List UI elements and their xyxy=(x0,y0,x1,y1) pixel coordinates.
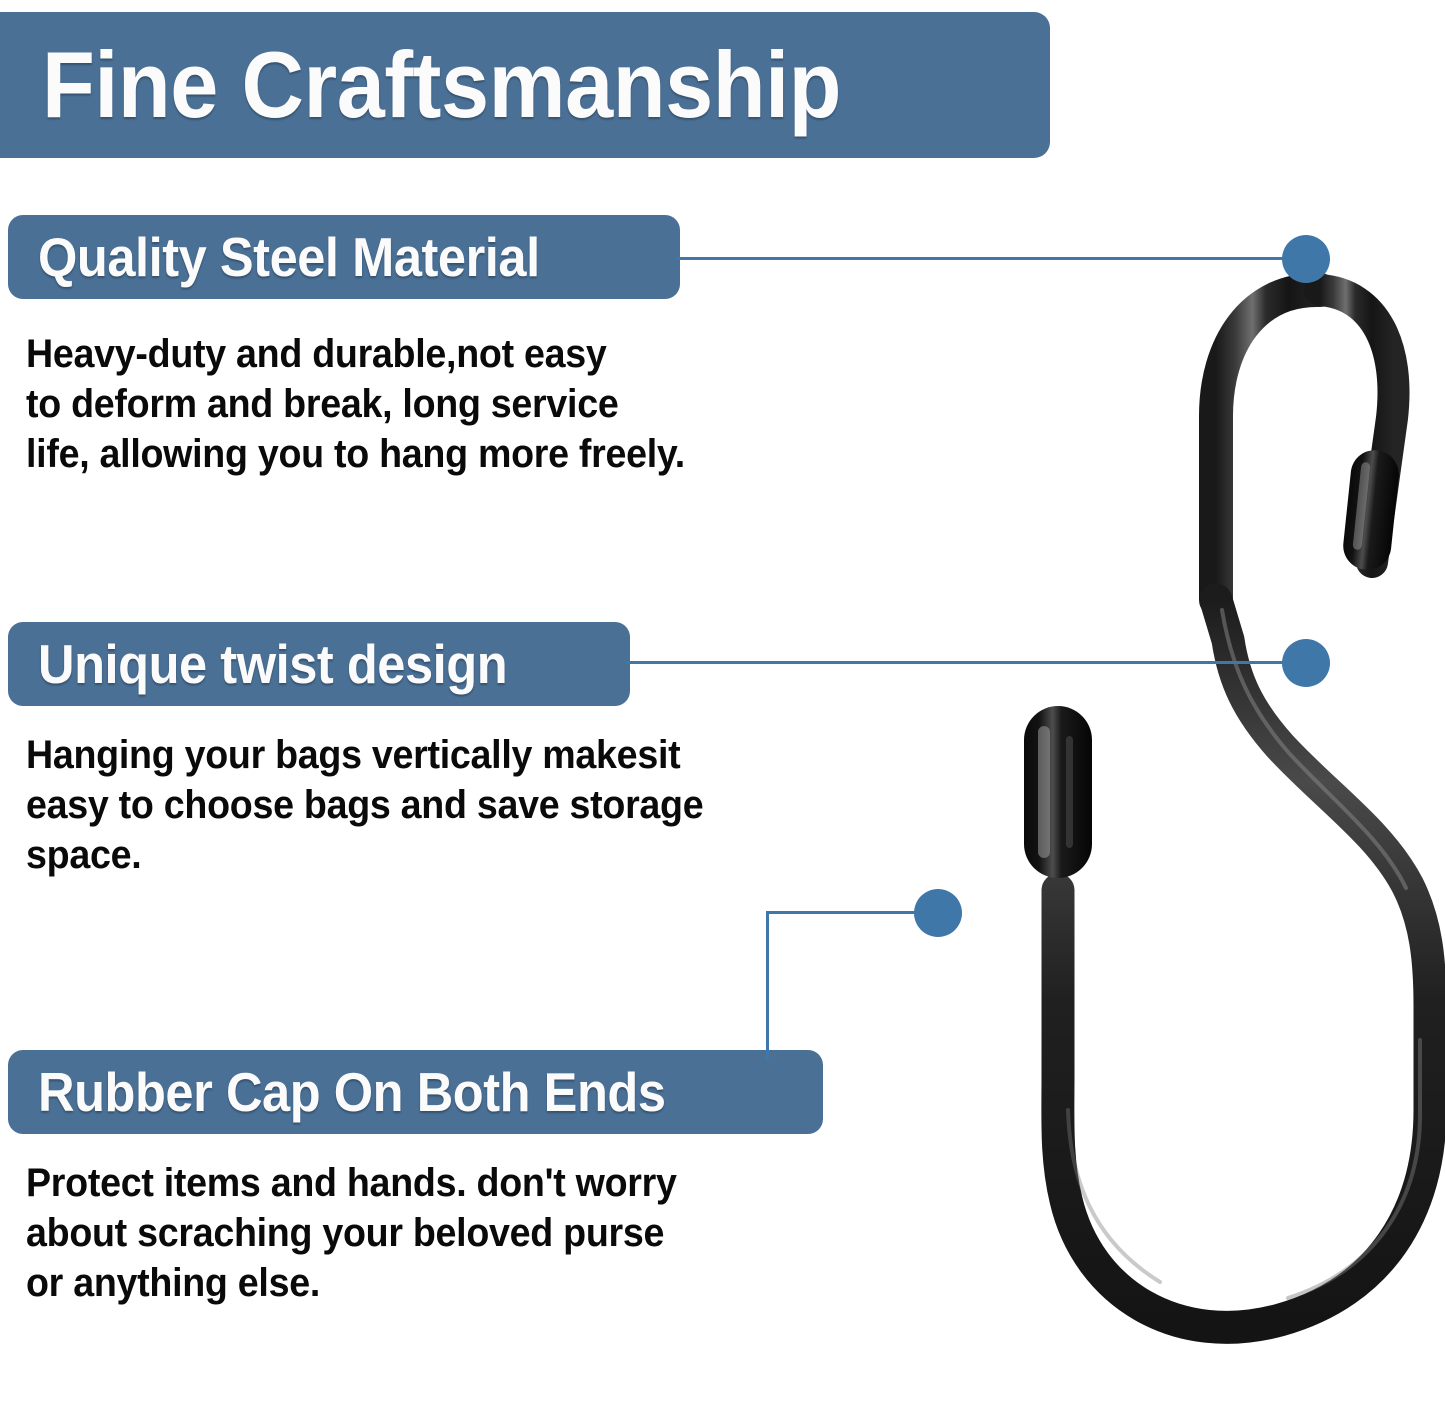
connector-line-feature-1 xyxy=(676,257,1306,260)
infographic-canvas: Fine Craftsmanship Quality Steel Materia… xyxy=(0,0,1445,1419)
twisted-shaft xyxy=(1058,600,1430,1327)
feature-label-text: Quality Steel Material xyxy=(38,230,540,285)
page-title-banner: Fine Craftsmanship xyxy=(0,12,1050,158)
feature-label-rubber-cap-on-both-ends: Rubber Cap On Both Ends xyxy=(8,1050,823,1134)
callout-marker-feature-3 xyxy=(914,889,962,937)
feature-body-rubber-cap-on-both-ends: Protect items and hands. don't worry abo… xyxy=(26,1158,797,1308)
callout-marker-feature-1 xyxy=(1282,235,1330,283)
feature-body-quality-steel-material: Heavy-duty and durable,not easy to defor… xyxy=(26,329,797,479)
connector-line-feature-3-vertical xyxy=(766,911,769,1059)
feature-label-unique-twist-design: Unique twist design xyxy=(8,622,630,706)
lower-rubber-cap xyxy=(1024,706,1092,878)
page-title: Fine Craftsmanship xyxy=(42,38,841,132)
hook-illustration xyxy=(860,170,1445,1419)
feature-label-quality-steel-material: Quality Steel Material xyxy=(8,215,680,299)
product-hook-image xyxy=(860,170,1445,1419)
feature-label-text: Rubber Cap On Both Ends xyxy=(38,1065,666,1120)
connector-line-feature-2 xyxy=(626,661,1306,664)
callout-marker-feature-2 xyxy=(1282,639,1330,687)
upper-hook-left-leg xyxy=(1216,290,1320,600)
feature-body-unique-twist-design: Hanging your bags vertically makesit eas… xyxy=(26,730,816,880)
upper-rubber-cap xyxy=(1341,448,1401,572)
feature-label-text: Unique twist design xyxy=(38,637,507,692)
lower-cap-highlight-2 xyxy=(1066,736,1073,848)
lower-cap-highlight xyxy=(1038,726,1050,858)
